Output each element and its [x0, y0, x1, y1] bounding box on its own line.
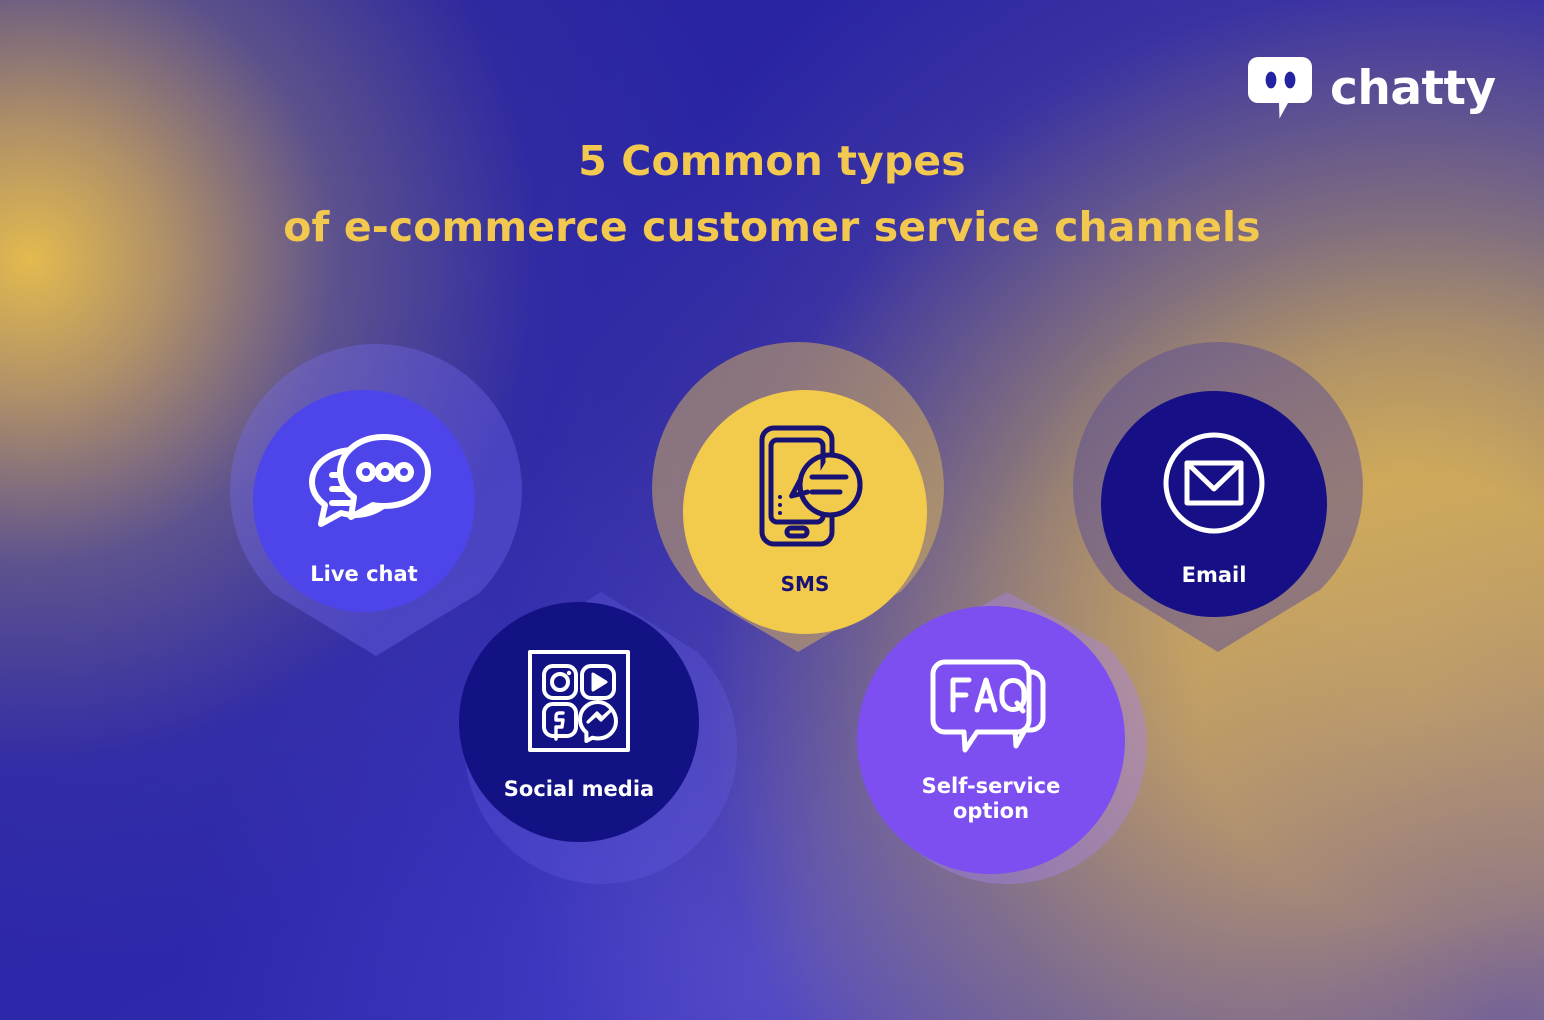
channel-core-self-service: Self-service option: [857, 606, 1125, 874]
channel-label-social-media: Social media: [504, 777, 654, 802]
social-grid-icon: [525, 647, 633, 755]
channel-label-sms: SMS: [781, 572, 830, 596]
channel-core-email: Email: [1101, 391, 1327, 617]
chat-bubble-logo-icon: [1248, 57, 1312, 119]
phone-message-icon: [744, 422, 866, 550]
channel-label-self-service: Self-service option: [922, 774, 1061, 824]
channel-core-live-chat: Live chat: [253, 390, 475, 612]
faq-bubble-icon: [927, 654, 1055, 758]
page-title: 5 Common types of e-commerce customer se…: [0, 128, 1544, 261]
brand-name: chatty: [1330, 65, 1496, 112]
channel-label-live-chat: Live chat: [310, 562, 417, 587]
chat-bubbles-icon: [296, 428, 432, 540]
channel-node-social-media[interactable]: Social media: [450, 588, 752, 888]
channel-core-social-media: Social media: [459, 602, 699, 842]
envelope-circle-icon: [1160, 429, 1268, 537]
page-title-line-1: 5 Common types: [0, 128, 1544, 194]
page-title-line-2: of e-commerce customer service channels: [0, 194, 1544, 260]
channel-node-self-service[interactable]: Self-service option: [842, 588, 1172, 888]
infographic-canvas: chatty 5 Common types of e-commerce cust…: [0, 0, 1544, 1020]
channel-label-email: Email: [1182, 563, 1247, 588]
brand-logo[interactable]: chatty: [1248, 57, 1496, 119]
self-service-label-line-1: Self-service: [922, 774, 1061, 798]
self-service-label-line-2: option: [953, 799, 1029, 823]
